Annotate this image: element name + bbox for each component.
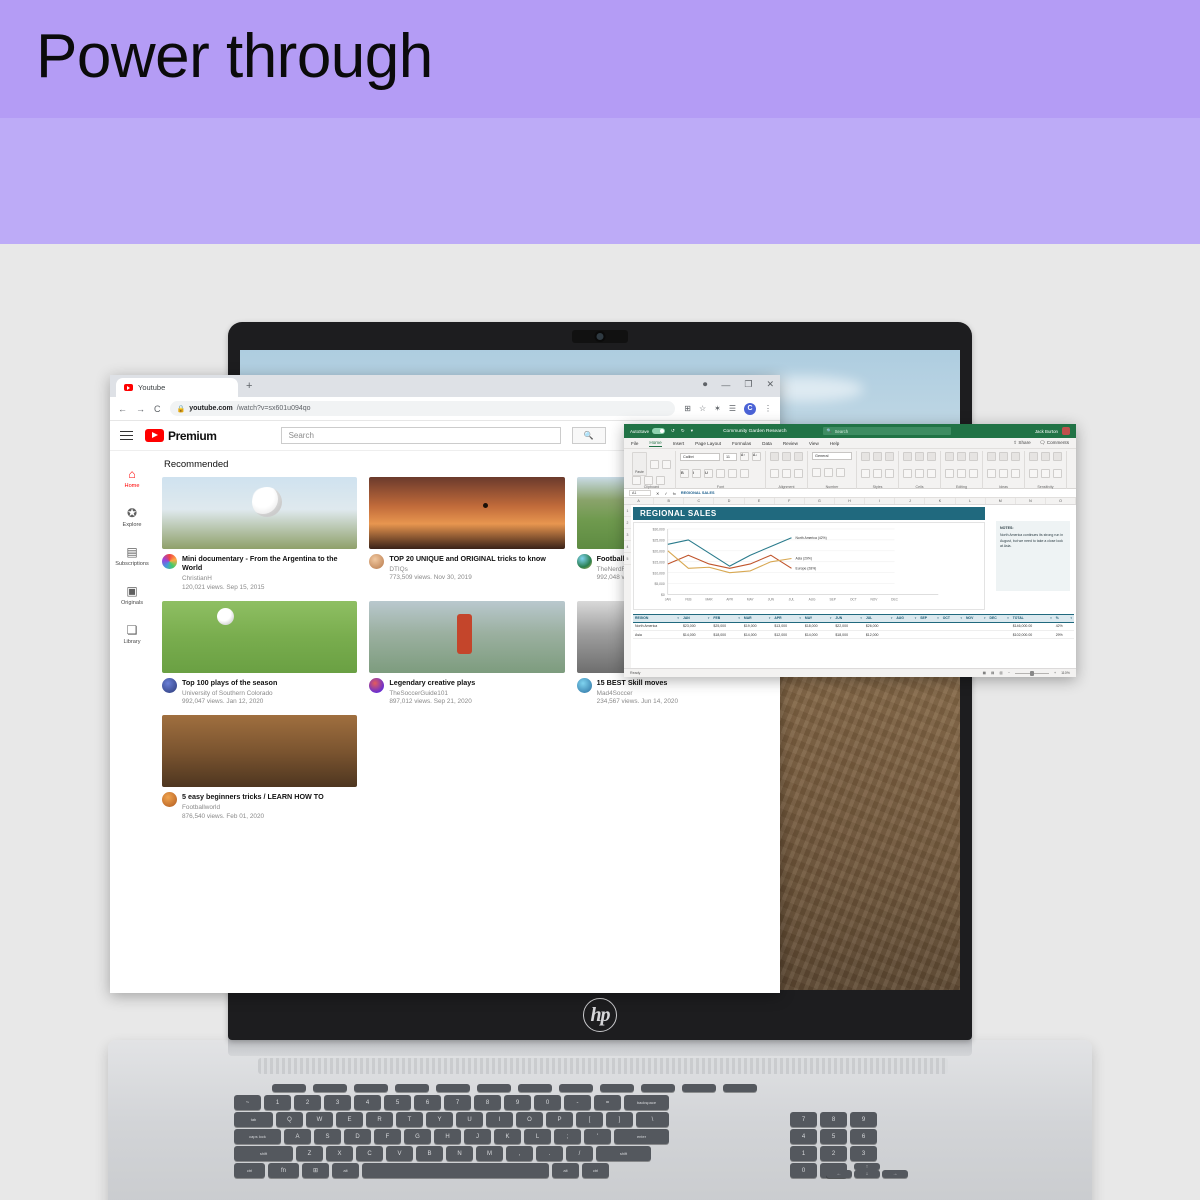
editing-btn-2[interactable] — [969, 469, 978, 478]
row-header-2[interactable]: 2 — [624, 517, 631, 529]
install-icon[interactable]: ⊞ — [684, 404, 691, 413]
numpad-key-1[interactable]: 1 — [790, 1146, 817, 1161]
format-b-button[interactable]: B — [680, 469, 689, 478]
key-y[interactable]: Y — [426, 1112, 453, 1127]
video-title[interactable]: Mini documentary - From the Argentina to… — [182, 554, 357, 573]
table-cell[interactable]: $146,000.00 — [1011, 622, 1054, 630]
alignment-btn-0[interactable] — [770, 469, 779, 478]
page-layout-icon[interactable]: ▤ — [991, 671, 994, 675]
hero-subtitle-band: intel CORe 7 Multitasking feels easy and… — [0, 118, 1200, 244]
video-channel[interactable]: Mad4Soccer — [597, 690, 678, 697]
share-button[interactable]: ⇪ Share — [1013, 440, 1030, 446]
column-header-C[interactable]: C — [684, 498, 714, 504]
font-size-decrease-button[interactable]: A↓ — [752, 452, 761, 461]
key--[interactable]: [ — [576, 1112, 603, 1127]
table-header-jun[interactable]: JUN▾ — [833, 615, 863, 623]
excel-menu-view[interactable]: View — [809, 441, 819, 446]
table-cell[interactable] — [918, 630, 941, 638]
table-cell[interactable]: $19,000 — [742, 622, 772, 630]
sidebar-item-explore[interactable]: ✪Explore — [110, 498, 154, 537]
font-extra-0-button[interactable] — [716, 469, 725, 478]
editing-2-button[interactable] — [969, 452, 978, 461]
font-extra-1-button[interactable] — [728, 469, 737, 478]
sensitivity-btn-2[interactable] — [1053, 469, 1062, 478]
video-thumbnail[interactable] — [369, 601, 564, 673]
comments-button[interactable]: 🗨 Comments — [1040, 440, 1069, 446]
table-cell[interactable]: $26,000 — [864, 622, 894, 630]
redo-icon[interactable]: ↻ — [681, 428, 685, 434]
numpad-key-7[interactable]: 7 — [790, 1112, 817, 1127]
page-break-icon[interactable]: ▥ — [999, 671, 1002, 675]
numpad-key-9[interactable]: 9 — [850, 1112, 877, 1127]
table-cell[interactable]: North America — [633, 622, 681, 630]
video-title[interactable]: TOP 20 UNIQUE and ORIGINAL tricks to kno… — [389, 554, 546, 563]
excel-menu-formulas[interactable]: Formulas — [732, 441, 751, 446]
table-header-dec[interactable]: DEC▾ — [988, 615, 1011, 623]
row-header-1[interactable]: 1 — [624, 505, 631, 517]
key-t[interactable]: T — [396, 1112, 423, 1127]
key-h[interactable]: H — [434, 1129, 461, 1144]
chart-svg: $0$5,000$10,000$15,000$20,000$25,000$30,… — [634, 523, 984, 611]
autosave-switch[interactable] — [652, 428, 665, 435]
key-ctrl[interactable]: ctrl — [582, 1163, 609, 1178]
insert-function-icon[interactable]: fx — [673, 491, 676, 496]
key-f11[interactable] — [682, 1084, 716, 1092]
excel-menu-page-layout[interactable]: Page Layout — [695, 441, 721, 446]
key-b[interactable]: B — [416, 1146, 443, 1161]
ideas-btn-1[interactable] — [999, 469, 1008, 478]
key-7[interactable]: 7 — [444, 1095, 471, 1110]
format-u-button[interactable]: U — [704, 469, 713, 478]
key-e[interactable]: E — [336, 1112, 363, 1127]
key-alt[interactable]: alt — [552, 1163, 579, 1178]
table-cell[interactable]: $13,000 — [772, 622, 802, 630]
key--[interactable]: / — [566, 1146, 593, 1161]
key-shift[interactable]: shift — [596, 1146, 651, 1161]
excel-menu-insert[interactable]: Insert — [673, 441, 685, 446]
table-cell[interactable]: 42% — [1054, 622, 1074, 630]
row-header-4[interactable]: 4 — [624, 541, 631, 553]
key--[interactable]: ' — [584, 1129, 611, 1144]
key-arrow-←[interactable]: ← — [826, 1170, 852, 1178]
channel-avatar[interactable] — [162, 678, 177, 693]
key-m[interactable]: M — [476, 1146, 503, 1161]
clipboard-btn-1[interactable] — [644, 476, 653, 485]
ribbon-row: General — [812, 452, 852, 460]
search-icon[interactable]: 🔍 — [572, 427, 606, 444]
key-caps-lock[interactable]: caps lock — [234, 1129, 281, 1144]
key-r[interactable]: R — [366, 1112, 393, 1127]
column-header-M[interactable]: M — [986, 498, 1016, 504]
key-d[interactable]: D — [344, 1129, 371, 1144]
cells-btn-2[interactable] — [927, 469, 936, 478]
table-header-aug[interactable]: AUG▾ — [894, 615, 918, 623]
table-cell[interactable] — [964, 622, 988, 630]
key-s[interactable]: S — [314, 1129, 341, 1144]
number-btn-0[interactable] — [812, 468, 821, 477]
youtube-play-icon — [145, 429, 164, 442]
key-fn[interactable]: fn — [268, 1163, 299, 1178]
hamburger-menu-icon[interactable] — [120, 428, 133, 443]
merge-text-button[interactable] — [770, 452, 779, 461]
table-cell[interactable]: $25,000 — [711, 622, 741, 630]
autosave-toggle[interactable]: AutoSave — [630, 428, 665, 435]
key-1[interactable]: 1 — [264, 1095, 291, 1110]
alignment-btn-2[interactable] — [794, 469, 803, 478]
forward-icon[interactable]: → — [136, 404, 145, 414]
column-header-K[interactable]: K — [925, 498, 955, 504]
table-header-feb[interactable]: FEB▾ — [711, 615, 741, 623]
table-cell[interactable] — [988, 630, 1011, 638]
video-card[interactable]: Legendary creative playsTheSoccerGuide10… — [369, 601, 564, 705]
table-cell[interactable]: $14,000 — [742, 630, 772, 638]
table-row[interactable]: North America$23,000$25,000$19,000$13,00… — [633, 622, 1074, 630]
table-cell[interactable]: $18,000 — [833, 630, 863, 638]
clipboard-button-1[interactable] — [662, 460, 671, 469]
video-title[interactable]: Legendary creative plays — [389, 678, 475, 687]
sidebar-item-subscriptions[interactable]: ▤Subscriptions — [110, 537, 154, 576]
cell-styles-button[interactable] — [885, 452, 894, 461]
styles-btn-2[interactable] — [885, 469, 894, 478]
column-header-D[interactable]: D — [714, 498, 744, 504]
key-i[interactable]: I — [486, 1112, 513, 1127]
sensitivity-btn-0[interactable] — [1029, 469, 1038, 478]
sidebar-item-library[interactable]: ❏Library — [110, 615, 154, 654]
column-header-L[interactable]: L — [956, 498, 986, 504]
column-header-E[interactable]: E — [745, 498, 775, 504]
excel-menu-home[interactable]: Home — [649, 440, 661, 447]
key-p[interactable]: P — [546, 1112, 573, 1127]
column-header-H[interactable]: H — [835, 498, 865, 504]
key-ctrl[interactable]: ctrl — [234, 1163, 265, 1178]
table-cell[interactable] — [941, 622, 964, 630]
key-f6[interactable] — [477, 1084, 511, 1092]
video-channel[interactable]: University of Southern Colorado — [182, 690, 277, 697]
numpad-key-3[interactable]: 3 — [850, 1146, 877, 1161]
editing-btn-0[interactable] — [945, 469, 954, 478]
key--[interactable]: ] — [606, 1112, 633, 1127]
key-f3[interactable] — [354, 1084, 388, 1092]
key-space[interactable] — [362, 1163, 549, 1178]
zoom-out-icon[interactable]: − — [1008, 671, 1010, 675]
key-f10[interactable] — [641, 1084, 675, 1092]
column-header-G[interactable]: G — [805, 498, 835, 504]
key-backspace[interactable]: backspace — [624, 1095, 669, 1110]
font-size-increase-button[interactable]: A↑ — [740, 452, 749, 461]
numpad-key-0[interactable]: 0 — [790, 1163, 817, 1178]
sensitivity-2-button[interactable] — [1053, 452, 1062, 461]
reload-icon[interactable]: C — [154, 404, 161, 414]
key-4[interactable]: 4 — [354, 1095, 381, 1110]
video-meta: Top 100 plays of the seasonUniversity of… — [162, 678, 357, 705]
ideas-1-button[interactable] — [999, 452, 1008, 461]
table-cell[interactable]: $14,000 — [681, 630, 711, 638]
key-f8[interactable] — [559, 1084, 593, 1092]
confirm-icon[interactable]: ✓ — [664, 491, 667, 496]
x-tick-label: NOV — [870, 598, 878, 602]
channel-avatar[interactable] — [369, 678, 384, 693]
normal-view-icon[interactable]: ▦ — [983, 671, 986, 675]
excel-user[interactable]: Jack Burton — [1035, 427, 1070, 435]
table-header-total[interactable]: TOTAL▾ — [1011, 615, 1054, 623]
table-cell[interactable] — [894, 630, 918, 638]
key-j[interactable]: J — [464, 1129, 491, 1144]
minimize-button[interactable]: — — [721, 380, 730, 390]
reading-list-icon[interactable]: ☰ — [729, 404, 736, 413]
video-channel[interactable]: DTIQs — [389, 566, 546, 573]
table-cell[interactable]: $23,000 — [681, 622, 711, 630]
styles-btn-1[interactable] — [873, 469, 882, 478]
key-w[interactable]: W — [306, 1112, 333, 1127]
restore-button[interactable]: ❐ — [744, 379, 752, 390]
key-z[interactable]: Z — [296, 1146, 323, 1161]
key-v[interactable]: V — [386, 1146, 413, 1161]
key-f2[interactable] — [313, 1084, 347, 1092]
key-f[interactable]: F — [374, 1129, 401, 1144]
table-header-sep[interactable]: SEP▾ — [918, 615, 941, 623]
profile-avatar[interactable]: C — [744, 403, 756, 415]
video-card[interactable]: TOP 20 UNIQUE and ORIGINAL tricks to kno… — [369, 477, 564, 591]
video-card[interactable]: 5 easy beginners tricks / LEARN HOW TOFo… — [162, 715, 357, 819]
table-header-mar[interactable]: MAR▾ — [742, 615, 772, 623]
back-icon[interactable]: ← — [118, 404, 127, 414]
key-5[interactable]: 5 — [384, 1095, 411, 1110]
video-thumbnail[interactable] — [369, 477, 564, 549]
table-cell[interactable]: Asia — [633, 630, 681, 638]
key-arrow-→[interactable]: → — [882, 1170, 908, 1178]
number-btn-2[interactable] — [836, 468, 845, 477]
video-channel[interactable]: ChristianH — [182, 575, 357, 582]
alignment-2-button[interactable] — [794, 452, 803, 461]
video-channel[interactable]: TheSoccerGuide101 — [389, 690, 475, 697]
video-thumbnail[interactable] — [162, 715, 357, 787]
record-icon[interactable]: ⏺ — [703, 379, 708, 390]
undo-icon[interactable]: ↺ — [671, 428, 675, 434]
ideas-2-button[interactable] — [1011, 452, 1020, 461]
format-as-table-button[interactable] — [873, 452, 882, 461]
styles-btn-0[interactable] — [861, 469, 870, 478]
key-9[interactable]: 9 — [504, 1095, 531, 1110]
key-arrow-↑[interactable]: ↑ — [854, 1163, 880, 1170]
key-enter[interactable]: enter — [614, 1129, 669, 1144]
key-f5[interactable] — [436, 1084, 470, 1092]
key-6[interactable]: 6 — [414, 1095, 441, 1110]
cells-btn-0[interactable] — [903, 469, 912, 478]
key-l[interactable]: L — [524, 1129, 551, 1144]
numpad-key-4[interactable]: 4 — [790, 1129, 817, 1144]
ideas-btn-0[interactable] — [987, 469, 996, 478]
key-2[interactable]: 2 — [294, 1095, 321, 1110]
column-header-F[interactable]: F — [775, 498, 805, 504]
table-cell[interactable] — [964, 630, 988, 638]
table-cell[interactable]: $12,000 — [772, 630, 802, 638]
find-select-button[interactable] — [957, 452, 966, 461]
format-i-button[interactable]: I — [692, 469, 701, 478]
key-tab[interactable]: tab — [234, 1112, 273, 1127]
extensions-icon[interactable]: ✶ — [714, 404, 721, 413]
key--[interactable]: ⊞ — [302, 1163, 329, 1178]
table-header-apr[interactable]: APR▾ — [772, 615, 802, 623]
table-cell[interactable] — [988, 622, 1011, 630]
font-name-select[interactable]: Calibri — [680, 453, 720, 461]
format-button[interactable] — [927, 452, 936, 461]
table-cell[interactable] — [918, 622, 941, 630]
laptop-keyboard[interactable]: ~1234567890-=backspacetabQWERTYUIOP[]\ca… — [234, 1084, 964, 1196]
address-input[interactable]: 🔒 youtube.com/watch?v=sx601u094qo — [170, 401, 676, 416]
clipboard-btn-2[interactable] — [656, 476, 665, 485]
sensitivity-button[interactable] — [1029, 452, 1038, 461]
insert-button[interactable] — [903, 452, 912, 461]
excel-menu-help[interactable]: Help — [830, 441, 839, 446]
key-shift[interactable]: shift — [234, 1146, 293, 1161]
conditional-formatting-button[interactable] — [861, 452, 870, 461]
sensitivity-1-button[interactable] — [1041, 452, 1050, 461]
name-box[interactable]: A1 — [629, 490, 651, 497]
ideas-button[interactable] — [987, 452, 996, 461]
table-cell[interactable]: $18,000 — [711, 630, 741, 638]
table-header-jul[interactable]: JUL▾ — [864, 615, 894, 623]
number-format-select[interactable]: General — [812, 452, 852, 460]
video-card[interactable]: Top 100 plays of the seasonUniversity of… — [162, 601, 357, 705]
key-0[interactable]: 0 — [534, 1095, 561, 1110]
column-header-J[interactable]: J — [895, 498, 925, 504]
key-f12[interactable] — [723, 1084, 757, 1092]
excel-menu-file[interactable]: File — [631, 441, 638, 446]
merge-center-button[interactable] — [782, 452, 791, 461]
key--[interactable]: , — [506, 1146, 533, 1161]
new-tab-button[interactable]: + — [246, 380, 252, 392]
video-thumbnail[interactable] — [162, 601, 357, 673]
channel-avatar[interactable] — [162, 792, 177, 807]
channel-avatar[interactable] — [369, 554, 384, 569]
table-header-may[interactable]: MAY▾ — [803, 615, 833, 623]
video-title[interactable]: Top 100 plays of the season — [182, 678, 277, 687]
numpad-key-5[interactable]: 5 — [820, 1129, 847, 1144]
key-n[interactable]: N — [446, 1146, 473, 1161]
key-f9[interactable] — [600, 1084, 634, 1092]
key-f4[interactable] — [395, 1084, 429, 1092]
editing-btn-1[interactable] — [957, 469, 966, 478]
key-alt[interactable]: alt — [332, 1163, 359, 1178]
browser-menu-icon[interactable]: ⋮ — [764, 404, 772, 413]
key-a[interactable]: A — [284, 1129, 311, 1144]
alignment-btn-1[interactable] — [782, 469, 791, 478]
video-stats: 876,540 views. Feb 01, 2020 — [182, 813, 324, 820]
number-btn-1[interactable] — [824, 468, 833, 477]
table-header-nov[interactable]: NOV▾ — [964, 615, 988, 623]
sidebar-item-originals[interactable]: ▣Originals — [110, 576, 154, 615]
video-title[interactable]: 15 BEST Skill moves — [597, 678, 678, 687]
excel-menu-data[interactable]: Data — [762, 441, 772, 446]
table-cell[interactable]: $102,000.00 — [1011, 630, 1054, 638]
video-channel[interactable]: Footballworld — [182, 804, 324, 811]
column-header-O[interactable]: O — [1046, 498, 1076, 504]
table-cell[interactable]: 29% — [1054, 630, 1074, 638]
numpad-key-8[interactable]: 8 — [820, 1112, 847, 1127]
cells-btn-1[interactable] — [915, 469, 924, 478]
key-c[interactable]: C — [356, 1146, 383, 1161]
key--[interactable]: ; — [554, 1129, 581, 1144]
sidebar-item-home[interactable]: ⌂Home — [110, 459, 154, 498]
bookmark-star-icon[interactable]: ☆ — [699, 404, 706, 413]
youtube-logo[interactable]: Premium — [145, 429, 217, 443]
close-button[interactable]: ✕ — [766, 379, 774, 390]
ribbon-group-editing: Editing — [941, 451, 983, 489]
key-x[interactable]: X — [326, 1146, 353, 1161]
sensitivity-btn-1[interactable] — [1041, 469, 1050, 478]
key--[interactable]: = — [594, 1095, 621, 1110]
column-header-A[interactable]: A — [624, 498, 654, 504]
channel-avatar[interactable] — [577, 678, 592, 693]
key-f7[interactable] — [518, 1084, 552, 1092]
key-f1[interactable] — [272, 1084, 306, 1092]
key-g[interactable]: G — [404, 1129, 431, 1144]
table-cell[interactable] — [941, 630, 964, 638]
row-header-5[interactable]: 5 — [624, 553, 631, 565]
ideas-btn-2[interactable] — [1011, 469, 1020, 478]
table-header-%[interactable]: %▾ — [1054, 615, 1074, 623]
excel-menu-review[interactable]: Review — [783, 441, 798, 446]
paste-button[interactable]: Paste — [632, 452, 647, 476]
table-cell[interactable]: $18,000 — [803, 622, 833, 630]
key-u[interactable]: U — [456, 1112, 483, 1127]
key-arrow-↓[interactable]: ↓ — [854, 1170, 880, 1178]
zoom-in-icon[interactable]: + — [1054, 671, 1056, 675]
table-header-region[interactable]: REGION▾ — [633, 615, 681, 623]
row-header-3[interactable]: 3 — [624, 529, 631, 541]
table-cell[interactable]: $22,000 — [833, 622, 863, 630]
key-q[interactable]: Q — [276, 1112, 303, 1127]
video-card[interactable]: Mini documentary - From the Argentina to… — [162, 477, 357, 591]
font-size-select[interactable]: 11 — [723, 453, 737, 461]
delete-button[interactable] — [915, 452, 924, 461]
table-header-oct[interactable]: OCT▾ — [941, 615, 964, 623]
excel-search-input[interactable]: 🔍 Search — [823, 427, 951, 435]
key-o[interactable]: O — [516, 1112, 543, 1127]
key-k[interactable]: K — [494, 1129, 521, 1144]
sort-filter-button[interactable] — [945, 452, 954, 461]
youtube-search-input[interactable]: Search — [281, 427, 561, 444]
channel-avatar[interactable] — [162, 554, 177, 569]
video-thumbnail[interactable] — [162, 477, 357, 549]
video-title[interactable]: 5 easy beginners tricks / LEARN HOW TO — [182, 792, 324, 801]
table-header-jan[interactable]: JAN▾ — [681, 615, 711, 623]
table-cell[interactable]: $14,000 — [803, 630, 833, 638]
clipboard-btn-0[interactable] — [632, 476, 641, 485]
column-header-B[interactable]: B — [654, 498, 684, 504]
font-extra-2-button[interactable] — [740, 469, 749, 478]
browser-tab-youtube[interactable]: Youtube — [116, 378, 238, 397]
customize-icon[interactable]: ▾ — [691, 428, 693, 434]
key--[interactable]: - — [564, 1095, 591, 1110]
table-row[interactable]: Asia$14,000$18,000$14,000$12,000$14,000$… — [633, 630, 1074, 638]
key--[interactable]: \ — [636, 1112, 669, 1127]
cancel-icon[interactable]: ✕ — [656, 491, 659, 496]
key--[interactable]: . — [536, 1146, 563, 1161]
key-3[interactable]: 3 — [324, 1095, 351, 1110]
key--[interactable]: ~ — [234, 1095, 261, 1110]
key-8[interactable]: 8 — [474, 1095, 501, 1110]
table-cell[interactable] — [894, 622, 918, 630]
channel-avatar[interactable] — [577, 554, 592, 569]
column-header-I[interactable]: I — [865, 498, 895, 504]
table-cell[interactable]: $12,000 — [864, 630, 894, 638]
numpad-key-2[interactable]: 2 — [820, 1146, 847, 1161]
column-header-N[interactable]: N — [1016, 498, 1046, 504]
numpad-key-6[interactable]: 6 — [850, 1129, 877, 1144]
clipboard-button-0[interactable] — [650, 460, 659, 469]
zoom-slider[interactable] — [1015, 673, 1049, 674]
